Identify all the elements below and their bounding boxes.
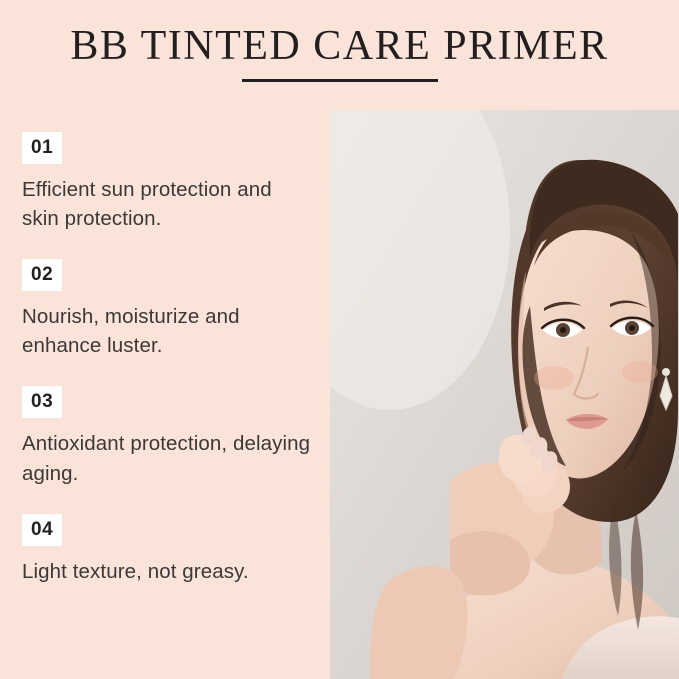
feature-number-badge: 01 (22, 132, 62, 164)
list-item: 04 Light texture, not greasy. (22, 514, 322, 586)
title-block: BB TINTED CARE PRIMER (0, 22, 679, 82)
title-underline-rule (242, 79, 438, 82)
feature-description: Antioxidant protection, delaying aging. (22, 429, 314, 487)
feature-list: 01 Efficient sun protection and skin pro… (22, 132, 322, 586)
list-item: 01 Efficient sun protection and skin pro… (22, 132, 322, 233)
feature-description: Nourish, moisturize and enhance luster. (22, 302, 314, 360)
feature-description: Efficient sun protection and skin protec… (22, 175, 314, 233)
product-feature-poster: BB TINTED CARE PRIMER 01 Efficient sun p… (0, 0, 679, 679)
list-item: 02 Nourish, moisturize and enhance luste… (22, 259, 322, 360)
feature-description: Light texture, not greasy. (22, 557, 314, 586)
feature-number-badge: 02 (22, 259, 62, 291)
list-item: 03 Antioxidant protection, delaying agin… (22, 386, 322, 487)
feature-number-badge: 03 (22, 386, 62, 418)
model-portrait-photo (330, 110, 679, 679)
page-title: BB TINTED CARE PRIMER (0, 22, 679, 70)
feature-number-badge: 04 (22, 514, 62, 546)
